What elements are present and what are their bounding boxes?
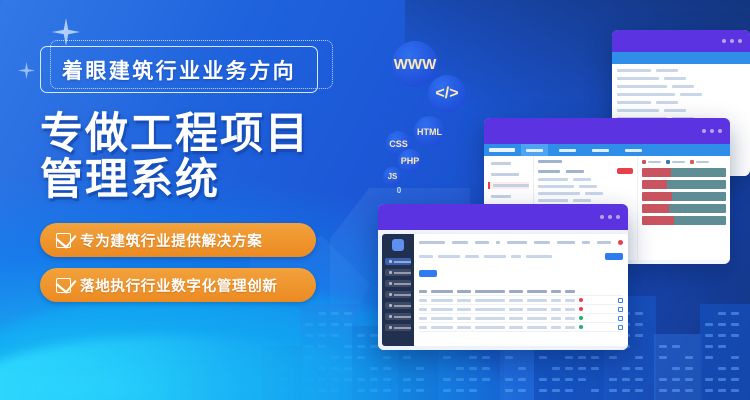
building-window bbox=[635, 334, 643, 337]
building-window bbox=[731, 367, 739, 370]
filter-field[interactable] bbox=[465, 255, 479, 258]
chart-bar-segment bbox=[672, 192, 726, 201]
building-window bbox=[685, 378, 693, 381]
sidebar-item[interactable] bbox=[488, 171, 529, 178]
chart-bar-segment bbox=[671, 168, 726, 177]
building-window bbox=[705, 334, 713, 337]
table-cell bbox=[565, 308, 575, 311]
list-cell bbox=[538, 178, 568, 181]
list-cell bbox=[617, 93, 675, 96]
building-window bbox=[672, 378, 680, 381]
list-title bbox=[538, 160, 562, 163]
banner-stage: 着眼建筑行业业务方向 专做工程项目 管理系统 专为建筑行业提供解决方案 落地执行… bbox=[0, 0, 750, 400]
tab-label bbox=[559, 149, 576, 152]
list-row[interactable] bbox=[617, 69, 745, 72]
nav-item[interactable] bbox=[557, 241, 575, 244]
sidebar-item-label bbox=[491, 162, 511, 165]
chart-legend-item bbox=[642, 160, 661, 164]
tech-bubble: PHP bbox=[398, 149, 422, 173]
window-tab[interactable] bbox=[554, 144, 581, 156]
list-cell bbox=[538, 199, 568, 202]
notification-badge bbox=[618, 240, 623, 245]
building-window bbox=[578, 367, 586, 370]
nav-item[interactable] bbox=[419, 241, 445, 244]
chart-legend-item bbox=[690, 160, 709, 164]
table-cell bbox=[565, 317, 575, 320]
legend-label bbox=[696, 161, 709, 164]
building-window bbox=[518, 378, 526, 381]
nav-item[interactable] bbox=[475, 241, 489, 244]
dashboard-window-front[interactable] bbox=[378, 204, 628, 350]
legend-label bbox=[648, 161, 661, 164]
building-window bbox=[731, 312, 739, 315]
table-row[interactable] bbox=[419, 323, 623, 332]
chart-bar-segment bbox=[669, 204, 726, 213]
building-window bbox=[591, 367, 599, 370]
building-window bbox=[578, 356, 586, 359]
table-header-cell bbox=[551, 290, 561, 293]
window-dot-icon bbox=[718, 129, 722, 133]
headline: 专做工程项目 管理系统 bbox=[40, 111, 340, 203]
legend-swatch bbox=[690, 160, 694, 164]
building-window bbox=[718, 345, 726, 348]
list-header bbox=[538, 168, 633, 174]
table-cell bbox=[431, 308, 453, 311]
sidebar-item-label bbox=[493, 184, 529, 187]
chart-bar-segment bbox=[642, 204, 669, 213]
table-cell bbox=[457, 326, 471, 329]
building bbox=[700, 304, 750, 400]
building-window bbox=[552, 378, 560, 381]
window-dot-icon bbox=[722, 39, 726, 43]
table-cell bbox=[475, 326, 505, 329]
sidebar-item[interactable] bbox=[385, 313, 411, 320]
nav-item[interactable] bbox=[534, 241, 550, 244]
table-header-cell bbox=[527, 290, 547, 293]
list-cell bbox=[656, 69, 678, 72]
table-cell bbox=[527, 317, 547, 320]
table-header-cell bbox=[565, 290, 575, 293]
checkbox-check-icon bbox=[56, 278, 71, 293]
list-cell bbox=[538, 185, 574, 188]
building-window bbox=[659, 356, 667, 359]
table-cell bbox=[419, 317, 427, 320]
action-button[interactable] bbox=[419, 270, 437, 277]
sidebar-item[interactable] bbox=[385, 280, 411, 287]
chart-bar-segment bbox=[642, 216, 674, 225]
list-cell bbox=[617, 77, 659, 80]
table-row[interactable] bbox=[419, 296, 623, 305]
building-window bbox=[635, 356, 643, 359]
table-cell bbox=[475, 317, 505, 320]
table-cell bbox=[457, 308, 471, 311]
nav-item[interactable] bbox=[582, 241, 590, 244]
building-window bbox=[635, 367, 643, 370]
building-window bbox=[609, 356, 617, 359]
building-window bbox=[565, 389, 573, 392]
sidebar-item-label bbox=[491, 195, 511, 198]
list-row[interactable] bbox=[538, 199, 633, 202]
list-row[interactable] bbox=[538, 185, 633, 188]
horizontal-bar-chart bbox=[642, 168, 726, 225]
chart-bar-segment bbox=[642, 192, 672, 201]
status-dot bbox=[579, 316, 583, 320]
window-logo bbox=[489, 148, 515, 152]
table-cell bbox=[551, 308, 561, 311]
row-action-icon bbox=[618, 325, 623, 330]
list-row[interactable] bbox=[538, 178, 633, 181]
table-header-cell bbox=[431, 290, 453, 293]
sidebar-item[interactable] bbox=[385, 269, 411, 276]
table-cell bbox=[419, 308, 427, 311]
building-window bbox=[539, 389, 547, 392]
building-window bbox=[685, 367, 693, 370]
status-dot bbox=[579, 307, 583, 311]
tab-label bbox=[625, 149, 642, 152]
row-action-icon bbox=[618, 307, 623, 312]
nav-item[interactable] bbox=[507, 241, 527, 244]
status-dot bbox=[579, 298, 583, 302]
building-window bbox=[672, 345, 680, 348]
window-content bbox=[378, 230, 628, 350]
chart-bar bbox=[642, 168, 726, 177]
chart-bar bbox=[642, 192, 726, 201]
building-window bbox=[705, 378, 713, 381]
list-row[interactable] bbox=[538, 192, 633, 195]
building-window bbox=[705, 345, 713, 348]
list-header-cell bbox=[538, 170, 560, 173]
table-cell bbox=[509, 317, 523, 320]
table-cell bbox=[551, 317, 561, 320]
building-window bbox=[591, 389, 599, 392]
list-cell bbox=[672, 85, 694, 88]
status-dot bbox=[579, 325, 583, 329]
list-cell bbox=[617, 101, 651, 104]
filter-field[interactable] bbox=[484, 255, 506, 258]
window-main-panel bbox=[414, 234, 628, 346]
table-cell bbox=[509, 299, 523, 302]
building-window bbox=[731, 323, 739, 326]
filter-field[interactable] bbox=[511, 255, 521, 258]
building-window bbox=[505, 356, 513, 359]
list-cell bbox=[579, 185, 597, 188]
chart-bar bbox=[642, 204, 726, 213]
window-sidebar[interactable] bbox=[382, 234, 414, 346]
building-window bbox=[565, 356, 573, 359]
window-title-bar bbox=[484, 118, 730, 144]
search-button bbox=[605, 253, 623, 260]
table-cell bbox=[509, 308, 523, 311]
window-tab-bar[interactable] bbox=[484, 144, 730, 156]
building-window bbox=[505, 378, 513, 381]
building-window bbox=[672, 367, 680, 370]
headline-line-2: 管理系统 bbox=[40, 157, 340, 203]
window-dot-icon bbox=[600, 215, 604, 219]
building-window bbox=[718, 323, 726, 326]
table-header-row bbox=[419, 287, 623, 296]
tech-bubble: 0 bbox=[392, 183, 406, 197]
window-chart-panel bbox=[638, 156, 730, 260]
list-row[interactable] bbox=[617, 93, 745, 96]
sidebar-item[interactable] bbox=[488, 160, 529, 167]
legend-swatch bbox=[642, 160, 646, 164]
building-window bbox=[635, 312, 643, 315]
window-tab[interactable] bbox=[587, 144, 614, 156]
building-window bbox=[731, 378, 739, 381]
danger-button[interactable] bbox=[617, 168, 633, 174]
feature-badge-list: 专为建筑行业提供解决方案 落地执行行业数字化管理创新 bbox=[40, 223, 340, 302]
building-window bbox=[659, 378, 667, 381]
window-title-bar bbox=[378, 204, 628, 230]
list-cell bbox=[617, 69, 651, 72]
chart-bar bbox=[642, 216, 726, 225]
tab-label bbox=[526, 149, 543, 152]
building-window bbox=[578, 378, 586, 381]
list-cell bbox=[538, 192, 580, 195]
window-dot-icon bbox=[738, 39, 742, 43]
building-window bbox=[685, 356, 693, 359]
sidebar-item[interactable] bbox=[385, 324, 411, 331]
table-cell bbox=[475, 308, 505, 311]
tagline-solid-outline: 着眼建筑行业业务方向 bbox=[40, 46, 318, 93]
table-cell bbox=[527, 299, 547, 302]
sidebar-item[interactable] bbox=[385, 291, 411, 298]
window-top-nav[interactable] bbox=[419, 238, 623, 247]
tab-label bbox=[592, 149, 609, 152]
tagline-text: 着眼建筑行业业务方向 bbox=[62, 55, 296, 85]
tagline-pill: 着眼建筑行业业务方向 bbox=[40, 46, 323, 95]
table-cell bbox=[527, 308, 547, 311]
building-window bbox=[539, 356, 547, 359]
sidebar-item[interactable] bbox=[385, 302, 411, 309]
building-window bbox=[718, 367, 726, 370]
building-window bbox=[622, 389, 630, 392]
checkbox-check-icon bbox=[56, 233, 71, 248]
building-window bbox=[609, 389, 617, 392]
building-window bbox=[539, 378, 547, 381]
building-window bbox=[565, 367, 573, 370]
building-window bbox=[659, 345, 667, 348]
app-logo-icon bbox=[392, 239, 404, 251]
list-cell bbox=[617, 109, 659, 112]
filter-toolbar[interactable] bbox=[419, 252, 623, 260]
building-window bbox=[718, 312, 726, 315]
table-row[interactable] bbox=[419, 305, 623, 314]
list-cell bbox=[664, 77, 686, 80]
window-dot-icon bbox=[730, 39, 734, 43]
chart-bar-segment bbox=[642, 168, 671, 177]
list-cell bbox=[617, 85, 667, 88]
list-cell bbox=[656, 101, 678, 104]
building-window bbox=[591, 356, 599, 359]
building-window bbox=[518, 389, 526, 392]
list-cell bbox=[573, 178, 591, 181]
window-dot-icon bbox=[616, 215, 620, 219]
building-window bbox=[718, 334, 726, 337]
sidebar-item[interactable] bbox=[488, 182, 529, 189]
data-table bbox=[419, 287, 623, 332]
building-window bbox=[718, 378, 726, 381]
table-cell bbox=[457, 317, 471, 320]
building-window bbox=[705, 356, 713, 359]
building-window bbox=[518, 367, 526, 370]
building-window bbox=[731, 389, 739, 392]
nav-item[interactable] bbox=[496, 241, 500, 244]
feature-badge[interactable]: 专为建筑行业提供解决方案 bbox=[40, 223, 316, 257]
table-header-cell bbox=[419, 290, 427, 293]
building-window bbox=[635, 389, 643, 392]
window-tab[interactable] bbox=[521, 144, 548, 156]
chart-bar bbox=[642, 180, 726, 189]
table-cell bbox=[431, 317, 453, 320]
table-row[interactable] bbox=[419, 314, 623, 323]
building-window bbox=[659, 389, 667, 392]
nav-item[interactable] bbox=[597, 241, 611, 244]
window-dot-icon bbox=[710, 129, 714, 133]
list-row[interactable] bbox=[617, 85, 745, 88]
list-row[interactable] bbox=[617, 109, 745, 112]
building-window bbox=[705, 323, 713, 326]
chart-legend bbox=[642, 160, 726, 164]
table-cell bbox=[475, 299, 505, 302]
sidebar-item[interactable] bbox=[488, 193, 529, 200]
building-window bbox=[622, 367, 630, 370]
table-cell bbox=[457, 299, 471, 302]
tech-bubble: WWW bbox=[392, 41, 438, 87]
window-tab[interactable] bbox=[620, 144, 647, 156]
list-row[interactable] bbox=[617, 77, 745, 80]
feature-badge[interactable]: 落地执行行业数字化管理创新 bbox=[40, 268, 316, 302]
table-cell bbox=[419, 326, 427, 329]
table-cell bbox=[509, 326, 523, 329]
building-window bbox=[552, 367, 560, 370]
building-window bbox=[731, 334, 739, 337]
sidebar-item[interactable] bbox=[385, 258, 411, 265]
sidebar-item-label bbox=[491, 173, 519, 176]
building-window bbox=[731, 356, 739, 359]
list-cell bbox=[585, 192, 603, 195]
row-action-icon bbox=[618, 298, 623, 303]
building-window bbox=[622, 378, 630, 381]
filter-field[interactable] bbox=[419, 255, 433, 258]
filter-field[interactable] bbox=[526, 255, 552, 258]
window-dot-icon bbox=[702, 129, 706, 133]
banner-copy: 着眼建筑行业业务方向 专做工程项目 管理系统 专为建筑行业提供解决方案 落地执行… bbox=[40, 46, 340, 313]
chart-legend-item bbox=[666, 160, 685, 164]
building-window bbox=[552, 389, 560, 392]
table-cell bbox=[551, 299, 561, 302]
table-header-cell bbox=[457, 290, 471, 293]
table-header-cell bbox=[475, 290, 505, 293]
building-window bbox=[565, 378, 573, 381]
filter-field[interactable] bbox=[438, 255, 460, 258]
list-cell bbox=[680, 93, 702, 96]
list-cell bbox=[664, 109, 686, 112]
table-cell bbox=[431, 299, 453, 302]
row-action-icon bbox=[618, 316, 623, 321]
headline-line-1: 专做工程项目 bbox=[40, 111, 340, 157]
table-cell bbox=[565, 299, 575, 302]
legend-label bbox=[672, 161, 685, 164]
legend-swatch bbox=[666, 160, 670, 164]
building-window bbox=[718, 389, 726, 392]
table-cell bbox=[431, 326, 453, 329]
chart-bar-segment bbox=[674, 216, 726, 225]
window-nav-bar bbox=[612, 52, 750, 64]
table-header-cell bbox=[509, 290, 523, 293]
window-dot-icon bbox=[608, 215, 612, 219]
feature-badge-label: 专为建筑行业提供解决方案 bbox=[80, 230, 262, 251]
building-window bbox=[685, 389, 693, 392]
chart-bar-segment bbox=[667, 180, 726, 189]
list-header-cell bbox=[566, 170, 584, 173]
building-window bbox=[635, 323, 643, 326]
table-cell bbox=[551, 326, 561, 329]
building-window bbox=[705, 389, 713, 392]
tech-bubble: HTML bbox=[414, 116, 445, 147]
table-cell bbox=[527, 326, 547, 329]
chart-bar-segment bbox=[642, 180, 667, 189]
nav-item[interactable] bbox=[452, 241, 468, 244]
feature-badge-label: 落地执行行业数字化管理创新 bbox=[80, 275, 278, 296]
table-cell bbox=[565, 326, 575, 329]
window-title-bar bbox=[612, 30, 750, 52]
tech-bubble: </> bbox=[428, 75, 466, 113]
building-window bbox=[672, 389, 680, 392]
building-window bbox=[635, 378, 643, 381]
list-cell bbox=[573, 199, 591, 202]
building-window bbox=[609, 378, 617, 381]
table-cell bbox=[419, 299, 427, 302]
list-row[interactable] bbox=[617, 101, 745, 104]
